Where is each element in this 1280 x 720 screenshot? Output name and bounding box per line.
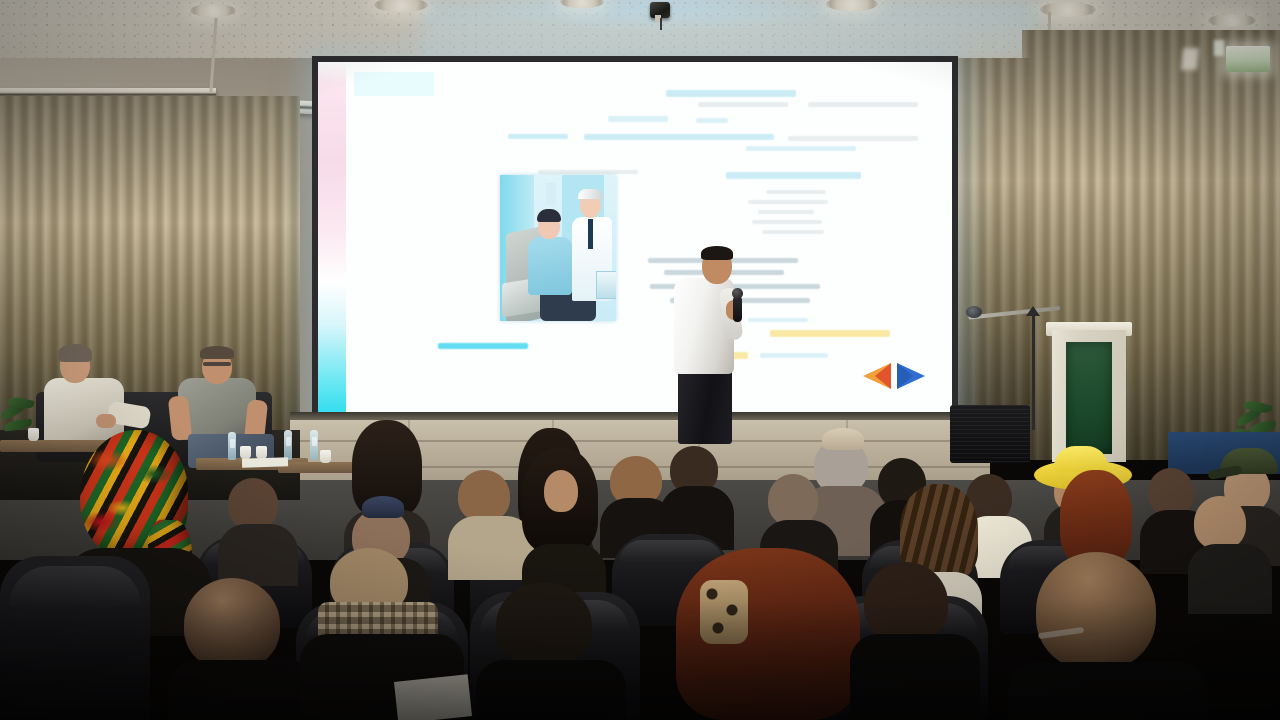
- slide-text-line: [746, 146, 856, 151]
- slide-text-line: [696, 118, 728, 123]
- double-arrow-logo-icon: [861, 361, 927, 391]
- handout-paper-front: [394, 674, 472, 720]
- slide-text-line: [748, 318, 808, 322]
- audience-head: [1194, 496, 1246, 550]
- audience-body: [850, 634, 980, 720]
- audience-head: [544, 470, 578, 512]
- presenter-trousers: [678, 364, 732, 444]
- leopard-print-garment: [700, 580, 748, 644]
- handout-paper: [242, 457, 288, 468]
- slide-text-line: [538, 170, 638, 174]
- slide-clinical-photo: [500, 175, 616, 321]
- photo-equipment: [546, 183, 556, 205]
- slide-text-line: [698, 102, 788, 107]
- water-bottle: [284, 430, 292, 460]
- photo-monitor: [596, 271, 616, 299]
- slide-text-line: [584, 134, 774, 140]
- handheld-microphone: [733, 296, 742, 322]
- slide-highlight-bar: [770, 330, 890, 337]
- slide-bullet: [758, 210, 814, 214]
- audience-body: [476, 660, 626, 720]
- slide-accent-bar: [438, 343, 528, 349]
- audience-head: [864, 562, 948, 644]
- panel-side-table: [278, 462, 356, 473]
- slide-text-line: [808, 102, 918, 107]
- water-bottle: [228, 432, 236, 460]
- yellow-sun-hat-crown: [1054, 446, 1108, 472]
- audience-head: [1036, 552, 1156, 670]
- ceiling-downlight: [190, 4, 236, 17]
- double-arrow-logo: [861, 361, 927, 391]
- projection-screen: [318, 62, 952, 416]
- paper-cup: [240, 446, 251, 459]
- panelist-left-hand: [96, 414, 116, 428]
- audience-body: [1188, 544, 1272, 614]
- curtain-mid-right: [958, 58, 1030, 408]
- kippah: [822, 428, 864, 450]
- potted-plant-left: [0, 398, 42, 454]
- conference-hall-photo: [0, 0, 1280, 720]
- photo-doctor-tie: [588, 219, 593, 249]
- window-light-sliver: [1214, 40, 1224, 56]
- slide-text-line: [508, 134, 568, 139]
- plant-leaf: [4, 419, 33, 432]
- seat-back-front: [0, 556, 150, 720]
- audience-head: [496, 582, 592, 668]
- photo-patient-torso: [528, 237, 572, 295]
- audience-head: [184, 578, 280, 670]
- audience-head: [458, 470, 510, 522]
- slide-bullet: [762, 230, 824, 234]
- slide-text-line: [608, 116, 668, 122]
- paper-cup: [320, 450, 331, 463]
- ceiling-wire: [660, 18, 662, 30]
- pa-speaker-grill: [950, 405, 1030, 463]
- boom-microphone-stand: [1032, 312, 1035, 430]
- boom-microphone-head-icon: [966, 306, 982, 318]
- slide-text-line: [788, 136, 918, 141]
- kippah: [362, 496, 404, 518]
- audience-head: [1148, 468, 1194, 516]
- ceiling-downlight: [1208, 14, 1256, 27]
- slide-sidebar-accent: [318, 62, 346, 416]
- panelist-right-glasses: [203, 362, 231, 366]
- ceiling-sensor-icon: [650, 2, 670, 18]
- ceiling-screen-glow: [420, 0, 1040, 62]
- photo-patient-hair: [537, 209, 561, 222]
- slide-bullet: [748, 200, 828, 204]
- microphone-head-icon: [732, 288, 743, 299]
- slide-title-block: [354, 72, 434, 96]
- slide-bullet: [752, 220, 822, 224]
- audience-head: [228, 478, 278, 530]
- audience-body: [218, 524, 298, 586]
- panelist-left-hair: [58, 344, 92, 362]
- lectern-glass-panel: [1066, 342, 1112, 454]
- slide-text-line: [760, 353, 828, 358]
- slide-subheading: [726, 172, 861, 179]
- photo-doctor-head-mirror: [578, 189, 603, 199]
- curtain-shading: [958, 58, 1030, 408]
- slide-bullet: [766, 190, 826, 194]
- window-light-gap: [1226, 46, 1270, 72]
- audience-body: [1008, 662, 1208, 720]
- audience-head: [768, 474, 818, 526]
- audience-body: [168, 660, 318, 720]
- pa-speaker-cabinet: [950, 405, 1030, 463]
- curtain-highlight: [1181, 48, 1199, 70]
- presenter-hair: [701, 246, 733, 260]
- panelist-right-hair: [200, 346, 234, 359]
- water-bottle: [310, 430, 318, 460]
- slide-text-line: [666, 90, 796, 97]
